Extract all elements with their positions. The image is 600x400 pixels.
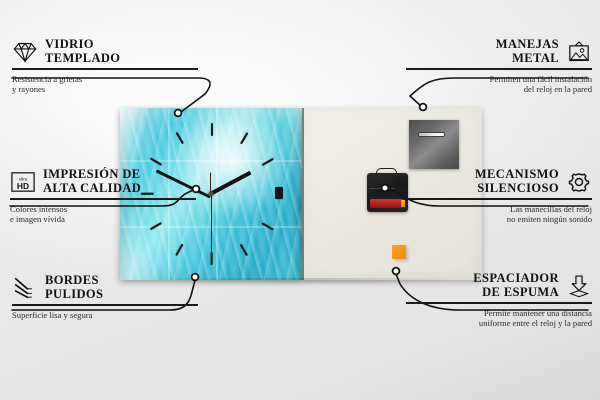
feature-title: BORDES PULIDOS: [45, 274, 103, 301]
feature-title: ESPACIADOR DE ESPUMA: [473, 272, 559, 299]
foam-spacer: [392, 245, 406, 259]
clock-center-pin: [209, 192, 214, 197]
feature-title: MANEJAS METAL: [496, 38, 559, 65]
feature-desc: Resistencia a grietas y rayones: [12, 70, 198, 95]
feature-desc: Permite mantener una distancia uniforme …: [406, 304, 592, 329]
clock-hand-second: [211, 195, 212, 257]
picture-frame-hanger-icon: [566, 40, 592, 64]
gear-icon: [566, 170, 592, 194]
feature-espaciador-espuma: ESPACIADOR DE ESPUMA Permite mantener un…: [406, 272, 592, 329]
feature-manejas-metal: MANEJAS METAL Permiten una fácil instala…: [406, 38, 592, 95]
feature-bordes-pulidos: BORDES PULIDOS Superficie lisa y segura: [12, 274, 198, 320]
feature-mecanismo-silencioso: MECANISMO SILENCIOSO Las manecillas del …: [406, 168, 592, 225]
polished-edges-icon: [12, 276, 38, 300]
diamond-icon: [12, 40, 38, 64]
feature-impresion-alta-calidad: ultra HD IMPRESIÓN DE ALTA CALIDAD Color…: [10, 168, 196, 225]
feature-desc: Las manecillas del reloj no emiten ningú…: [406, 200, 592, 225]
feature-title: IMPRESIÓN DE ALTA CALIDAD: [43, 168, 141, 195]
tick-3: [275, 187, 283, 199]
clock-hand-hour: [209, 171, 252, 196]
metal-hanger-plate: [409, 120, 459, 169]
svg-text:HD: HD: [17, 180, 29, 190]
feature-vidrio-templado: VIDRIO TEMPLADO Resistencia a grietas y …: [12, 38, 198, 95]
quartz-movement: [367, 173, 408, 212]
feature-desc: Colores intensos e imagen vívida: [10, 200, 196, 225]
arrow-down-stack-icon: [566, 274, 592, 298]
feature-title: VIDRIO TEMPLADO: [45, 38, 120, 65]
battery: [370, 199, 403, 208]
feature-desc: Permiten una fácil instalación del reloj…: [406, 70, 592, 95]
feature-desc: Superficie lisa y segura: [12, 306, 198, 321]
feature-title: MECANISMO SILENCIOSO: [475, 168, 559, 195]
infographic-canvas: VIDRIO TEMPLADO Resistencia a grietas y …: [0, 0, 600, 400]
ultra-hd-icon: ultra HD: [10, 170, 36, 194]
